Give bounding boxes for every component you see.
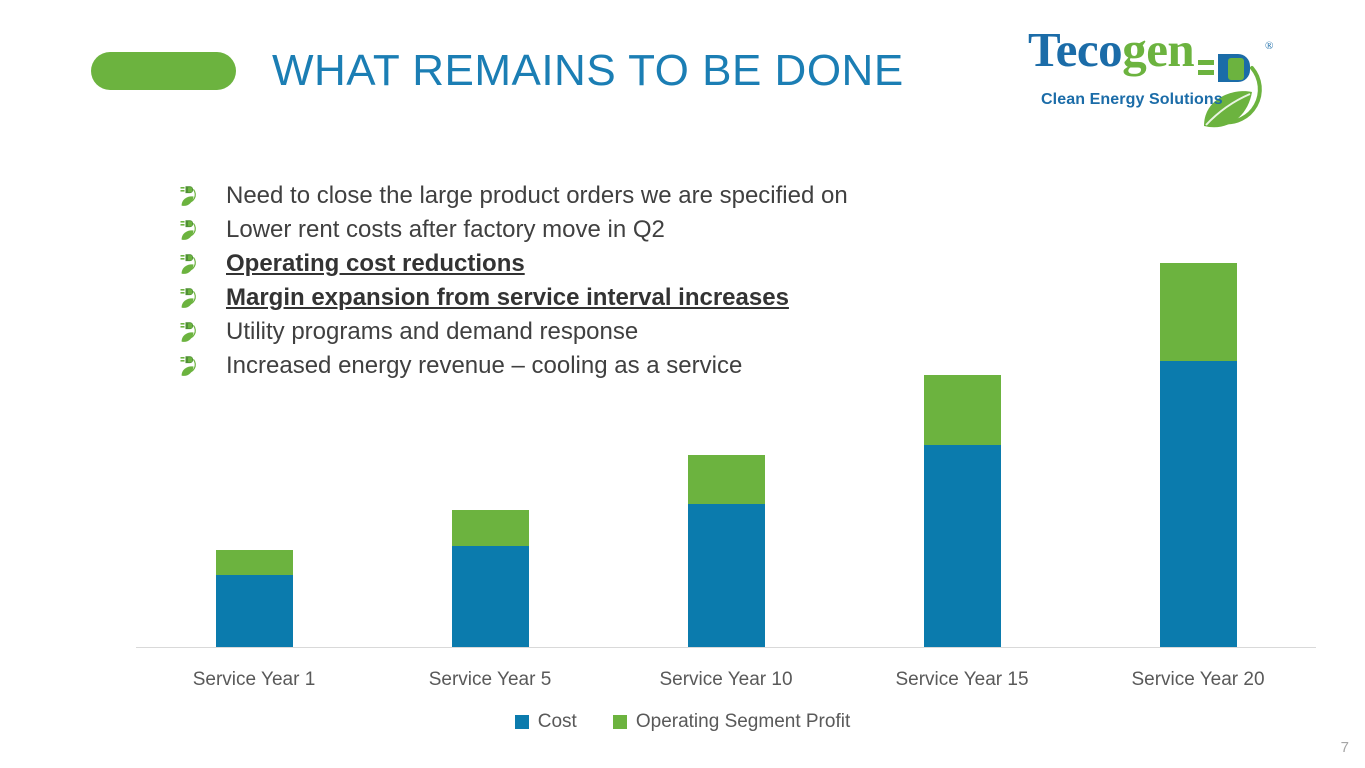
bullet-list: Need to close the large product orders w… — [180, 180, 1080, 384]
chart-legend-item: Cost — [515, 709, 577, 735]
leaf-plug-bullet-icon — [180, 322, 202, 346]
list-item: Operating cost reductions — [180, 248, 1080, 282]
list-item: Lower rent costs after factory move in Q… — [180, 214, 1080, 248]
bar-segment-operating-segment-profit — [1160, 263, 1237, 362]
leaf-plug-bullet-icon — [180, 288, 202, 312]
bullet-text: Need to close the large product orders w… — [226, 180, 848, 212]
chart-bar — [1160, 263, 1237, 648]
logo-wordmark: Tecogen — [1028, 22, 1194, 78]
bullet-text: Operating cost reductions — [226, 248, 525, 280]
tecogen-logo: Tecogen ® Clean Energy Solutions — [1028, 22, 1308, 134]
list-item: Margin expansion from service interval i… — [180, 282, 1080, 316]
bar-segment-cost — [452, 546, 529, 648]
page-number: 7 — [1341, 739, 1349, 756]
bullet-text: Increased energy revenue – cooling as a … — [226, 350, 742, 382]
title-accent-pill — [91, 52, 236, 90]
logo-tagline: Clean Energy Solutions — [1041, 91, 1223, 109]
bar-segment-operating-segment-profit — [452, 510, 529, 546]
logo-word-gen: gen — [1122, 22, 1194, 77]
chart-category-label: Service Year 10 — [608, 666, 844, 694]
legend-color-swatch — [613, 715, 627, 729]
bar-segment-operating-segment-profit — [924, 375, 1001, 445]
bar-segment-cost — [216, 575, 293, 648]
leaf-plug-bullet-icon — [180, 186, 202, 210]
bar-segment-cost — [688, 504, 765, 648]
chart-category-labels: Service Year 1Service Year 5Service Year… — [136, 666, 1316, 696]
chart-bar — [924, 375, 1001, 648]
page-title: WHAT REMAINS TO BE DONE — [272, 43, 904, 99]
bar-segment-operating-segment-profit — [216, 550, 293, 576]
list-item: Utility programs and demand response — [180, 316, 1080, 350]
chart-x-axis — [136, 647, 1316, 648]
chart-bar — [688, 455, 765, 648]
bullet-text: Margin expansion from service interval i… — [226, 282, 789, 314]
slide: WHAT REMAINS TO BE DONE Tecogen ® Clean … — [0, 0, 1365, 768]
legend-color-swatch — [515, 715, 529, 729]
chart-category-label: Service Year 20 — [1080, 666, 1316, 694]
leaf-plug-bullet-icon — [180, 254, 202, 278]
bar-segment-cost — [924, 445, 1001, 648]
leaf-plug-bullet-icon — [180, 220, 202, 244]
logo-word-teco: Teco — [1028, 22, 1122, 77]
legend-label: Operating Segment Profit — [636, 709, 850, 735]
bar-segment-cost — [1160, 361, 1237, 648]
registered-trademark-icon: ® — [1265, 40, 1273, 52]
list-item: Increased energy revenue – cooling as a … — [180, 350, 1080, 384]
chart-legend-item: Operating Segment Profit — [613, 709, 850, 735]
chart-bar — [452, 510, 529, 648]
chart-bar — [216, 550, 293, 648]
chart-category-label: Service Year 15 — [844, 666, 1080, 694]
chart-legend: CostOperating Segment Profit — [0, 709, 1365, 735]
leaf-plug-bullet-icon — [180, 356, 202, 380]
bullet-text: Lower rent costs after factory move in Q… — [226, 214, 665, 246]
chart-category-label: Service Year 1 — [136, 666, 372, 694]
list-item: Need to close the large product orders w… — [180, 180, 1080, 214]
bar-segment-operating-segment-profit — [688, 455, 765, 504]
legend-label: Cost — [538, 709, 577, 735]
bullet-text: Utility programs and demand response — [226, 316, 638, 348]
chart-category-label: Service Year 5 — [372, 666, 608, 694]
